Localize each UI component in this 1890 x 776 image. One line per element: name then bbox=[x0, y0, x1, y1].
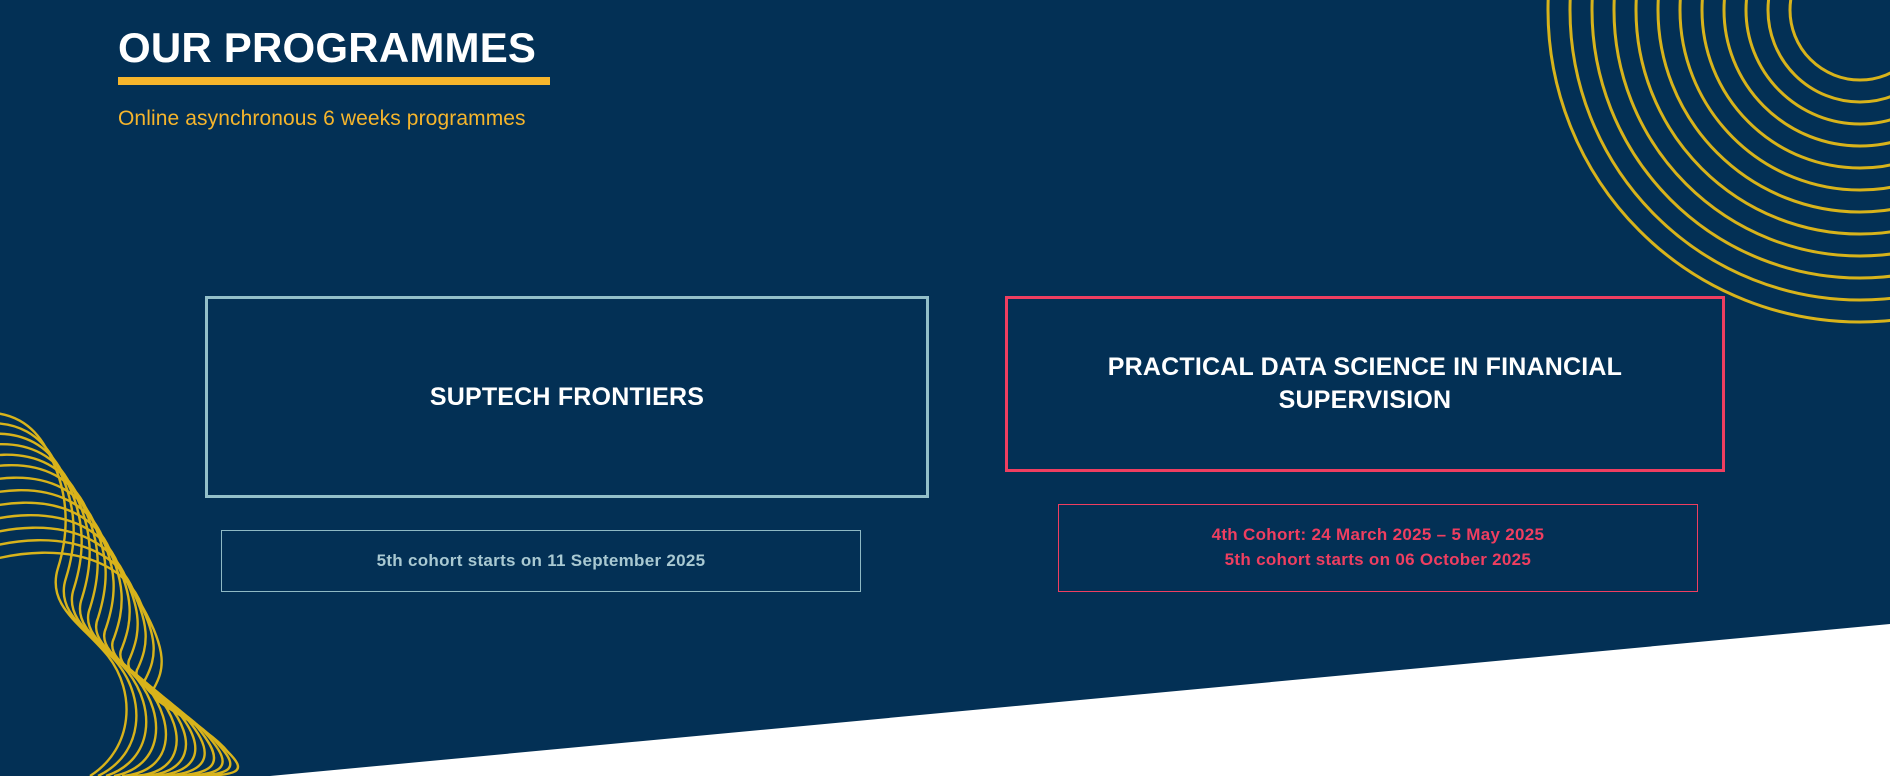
programme-card-suptech-frontiers[interactable]: SUPTECH FRONTIERS bbox=[205, 296, 929, 498]
cohort-line: 5th cohort starts on 06 October 2025 bbox=[1225, 548, 1532, 573]
programme-column-suptech-frontiers: SUPTECH FRONTIERS 5th cohort starts on 1… bbox=[205, 296, 929, 592]
page-header: OUR PROGRAMMES Online asynchronous 6 wee… bbox=[118, 26, 550, 131]
page-subtitle: Online asynchronous 6 weeks programmes bbox=[118, 107, 550, 131]
programme-card-title: PRACTICAL DATA SCIENCE IN FINANCIAL SUPE… bbox=[1042, 351, 1688, 417]
page-title: OUR PROGRAMMES bbox=[118, 26, 550, 70]
programme-card-practical-data-science[interactable]: PRACTICAL DATA SCIENCE IN FINANCIAL SUPE… bbox=[1005, 296, 1725, 472]
cohort-line: 4th Cohort: 24 March 2025 – 5 May 2025 bbox=[1212, 523, 1545, 548]
programmes-list: SUPTECH FRONTIERS 5th cohort starts on 1… bbox=[205, 296, 1725, 592]
concentric-arcs-icon bbox=[1390, 0, 1890, 340]
title-underline bbox=[118, 77, 550, 85]
cohort-line: 5th cohort starts on 11 September 2025 bbox=[377, 551, 706, 571]
programme-column-practical-data-science: PRACTICAL DATA SCIENCE IN FINANCIAL SUPE… bbox=[1005, 296, 1725, 592]
programme-card-title: SUPTECH FRONTIERS bbox=[430, 381, 704, 414]
cohort-box-suptech-frontiers[interactable]: 5th cohort starts on 11 September 2025 bbox=[221, 530, 861, 592]
cohort-box-practical-data-science[interactable]: 4th Cohort: 24 March 2025 – 5 May 2025 5… bbox=[1058, 504, 1698, 592]
